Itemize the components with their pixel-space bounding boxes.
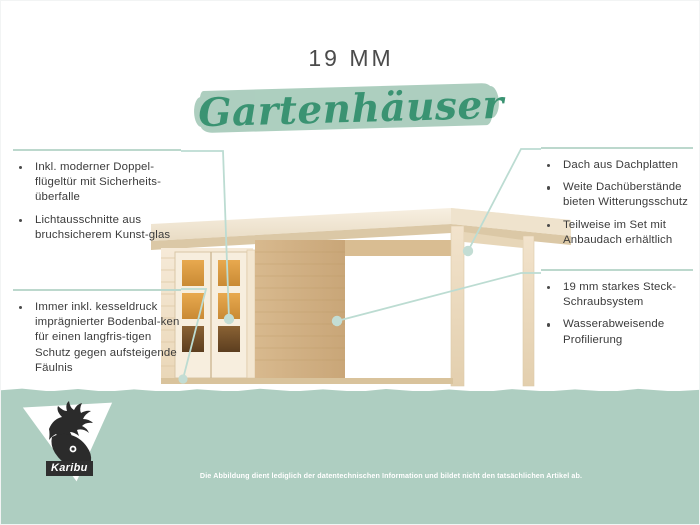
list-item: Wasserabweisende Profilierung — [541, 317, 693, 347]
callout-rule — [13, 149, 181, 151]
callout-wall-system-features: 19 mm starkes Steck-Schraubsystem Wasser… — [541, 269, 693, 355]
support-post-left — [451, 226, 464, 386]
callout-floor-beam-features: Immer inkl. kesseldruck imprägnierter Bo… — [13, 289, 181, 383]
page-title: 19 MM — [1, 47, 700, 70]
callout-list: Inkl. moderner Doppel-flügeltür mit Sich… — [13, 160, 181, 243]
door-frame-post — [247, 250, 255, 378]
callout-list: 19 mm starkes Steck-Schraubsystem Wasser… — [541, 280, 693, 348]
list-item: Immer inkl. kesseldruck imprägnierter Bo… — [13, 300, 181, 376]
side-wall — [255, 240, 345, 380]
garden-house-illustration — [151, 196, 571, 411]
callout-roof-features: Dach aus Dachplatten Weite Dachüberständ… — [541, 147, 693, 255]
callout-rule — [541, 147, 693, 149]
callout-rule — [541, 269, 693, 271]
list-item: Weite Dachüberstände bieten Witterungssc… — [541, 180, 693, 210]
callout-list: Dach aus Dachplatten Weite Dachüberständ… — [541, 158, 693, 248]
canopy-open-area — [345, 256, 453, 380]
script-title-group: Gartenhäuser — [1, 83, 700, 143]
canopy-header-beam — [345, 240, 453, 256]
list-item: Teilweise im Set mit Anbaudach erhältlic… — [541, 218, 693, 248]
callout-list: Immer inkl. kesseldruck imprägnierter Bo… — [13, 300, 181, 376]
list-item: Dach aus Dachplatten — [541, 158, 693, 173]
floor-beam — [161, 378, 453, 384]
script-title: Gartenhäuser — [0, 73, 700, 145]
support-post-right — [523, 236, 534, 386]
infographic-canvas: 19 MM Gartenhäuser — [0, 0, 700, 525]
list-item: 19 mm starkes Steck-Schraubsystem — [541, 280, 693, 310]
list-item: Inkl. moderner Doppel-flügeltür mit Sich… — [13, 160, 181, 206]
callout-rule — [13, 289, 181, 291]
thickness-label: 19 MM — [1, 47, 700, 70]
disclaimer-text: Die Abbildung dient lediglich der datent… — [1, 471, 700, 480]
list-item: Lichtausschnitte aus bruchsicherem Kunst… — [13, 213, 181, 243]
callout-door-features: Inkl. moderner Doppel-flügeltür mit Sich… — [13, 149, 181, 250]
